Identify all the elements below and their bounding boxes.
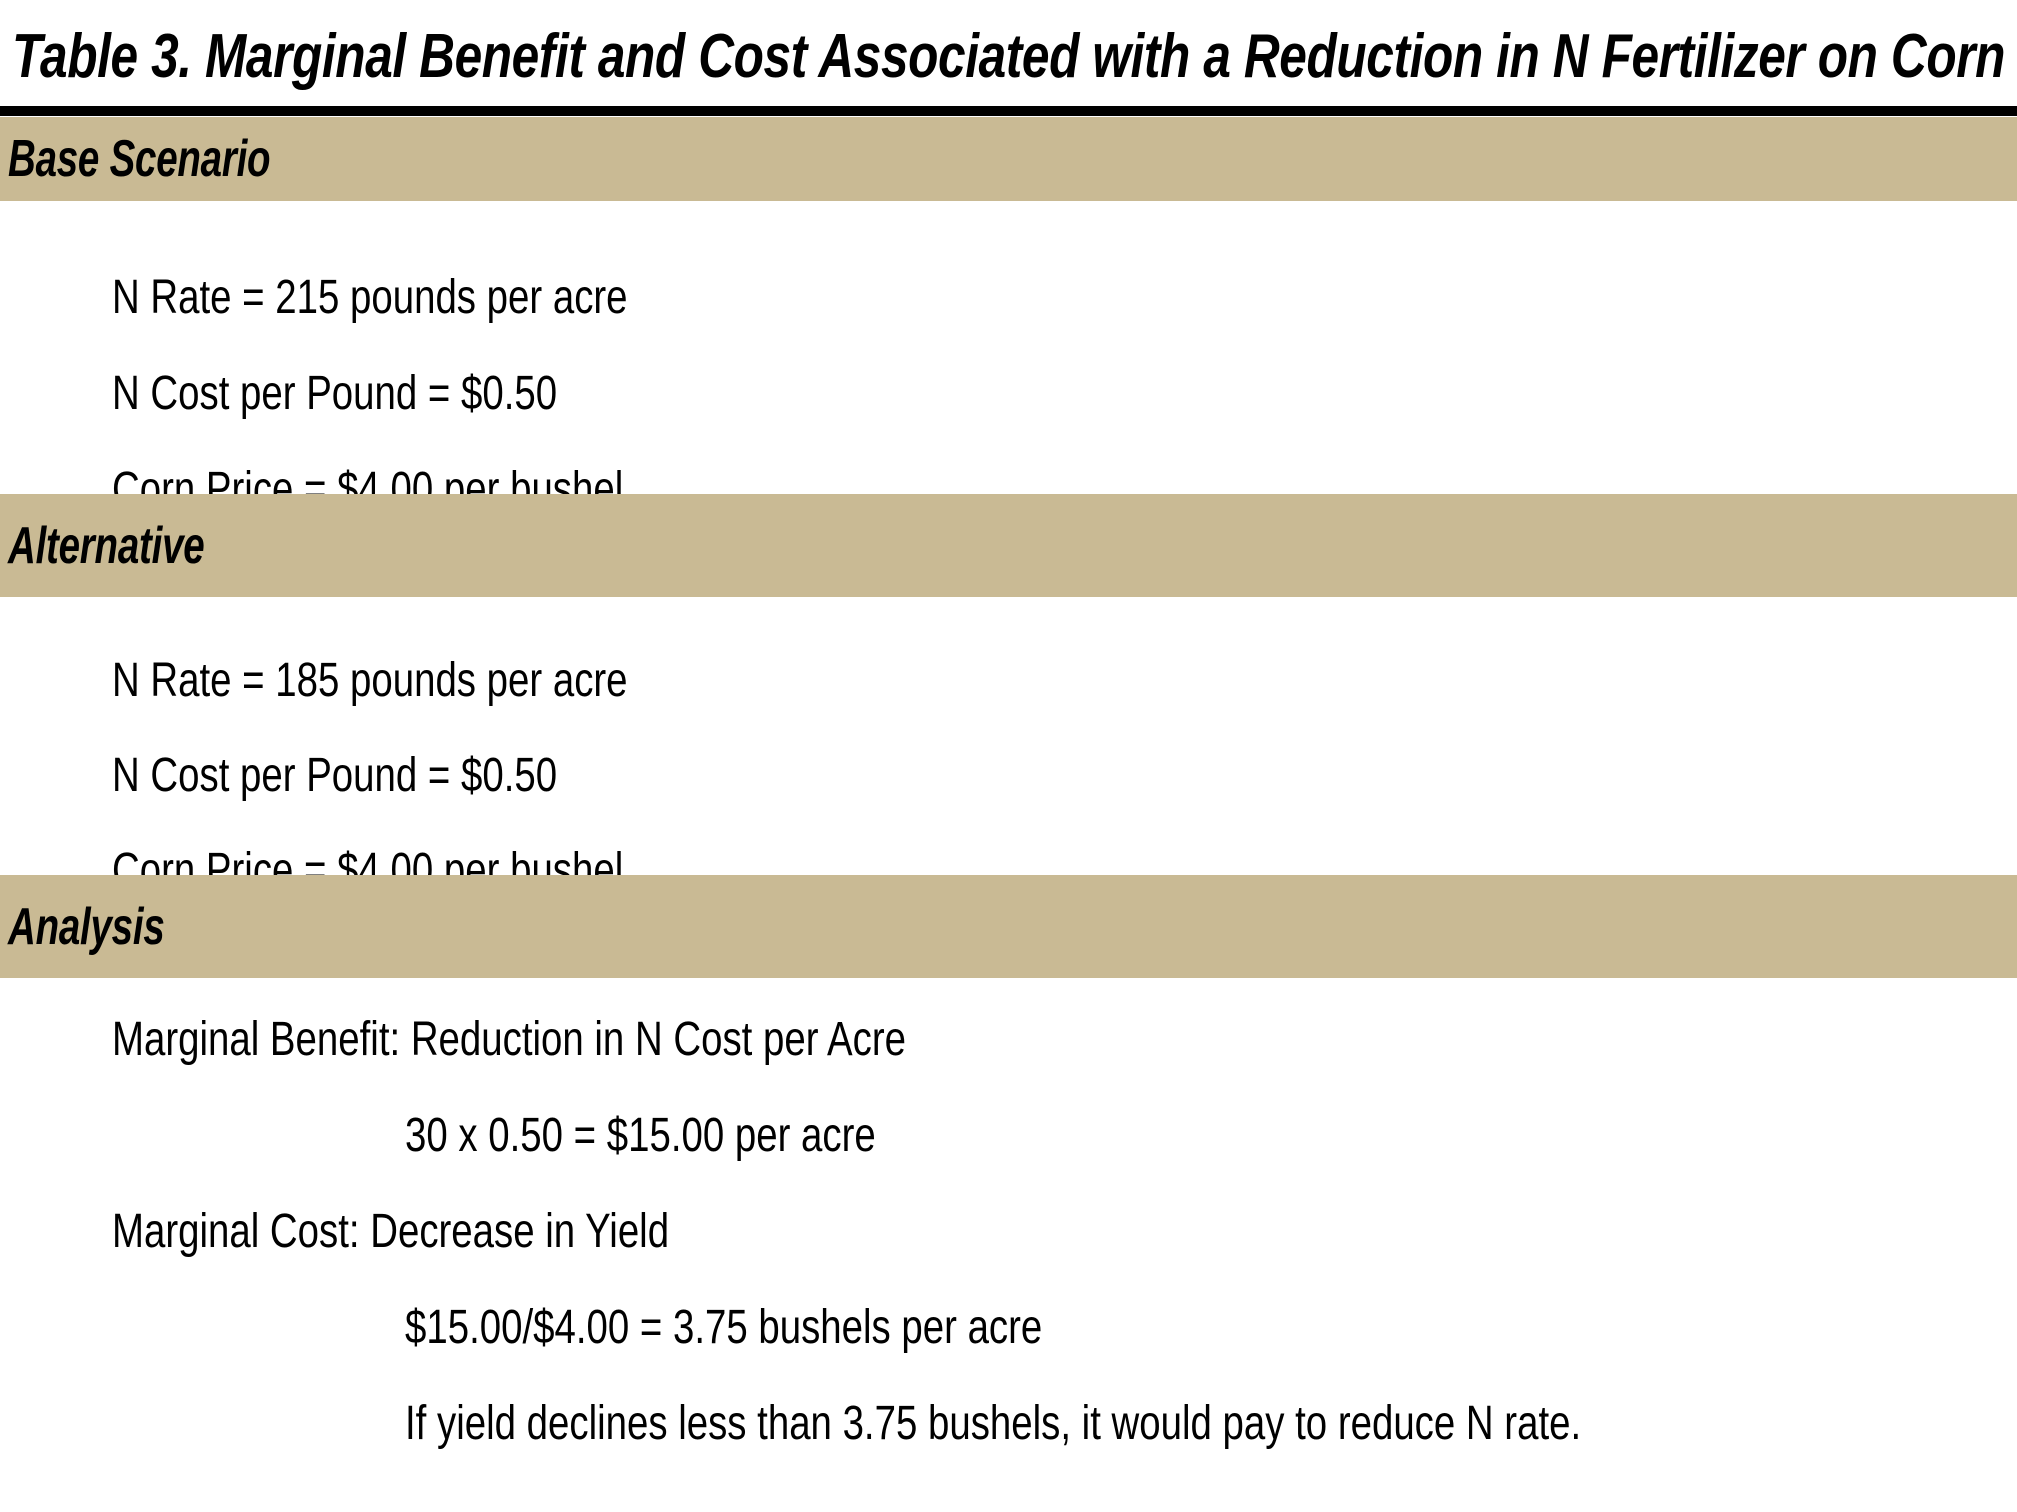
- section-header-base-scenario: Base Scenario: [0, 117, 2017, 201]
- title-separator-rule: [0, 106, 2017, 116]
- table-sheet: Table 3. Marginal Benefit and Cost Assoc…: [0, 0, 2017, 1512]
- table-row: $15.00/$4.00 = 3.75 bushels per acre: [405, 1304, 1042, 1352]
- table-row: Marginal Benefit: Reduction in N Cost pe…: [112, 1016, 906, 1064]
- table-row: Marginal Cost: Decrease in Yield: [112, 1208, 669, 1256]
- table-row: N Rate = 215 pounds per acre: [112, 274, 628, 322]
- section-header-alternative: Alternative: [0, 494, 2017, 597]
- table-row: 30 x 0.50 = $15.00 per acre: [405, 1112, 876, 1160]
- table-row: N Cost per Pound = $0.50: [112, 752, 557, 800]
- table-row: N Cost per Pound = $0.50: [112, 370, 557, 418]
- table-row: If yield declines less than 3.75 bushels…: [405, 1400, 1581, 1448]
- section-header-label: Base Scenario: [8, 133, 270, 185]
- table-title: Table 3. Marginal Benefit and Cost Assoc…: [202, 14, 1816, 100]
- table-row: N Rate = 185 pounds per acre: [112, 657, 628, 705]
- section-header-analysis: Analysis: [0, 875, 2017, 978]
- section-header-label: Analysis: [8, 901, 165, 953]
- section-header-label: Alternative: [8, 520, 204, 572]
